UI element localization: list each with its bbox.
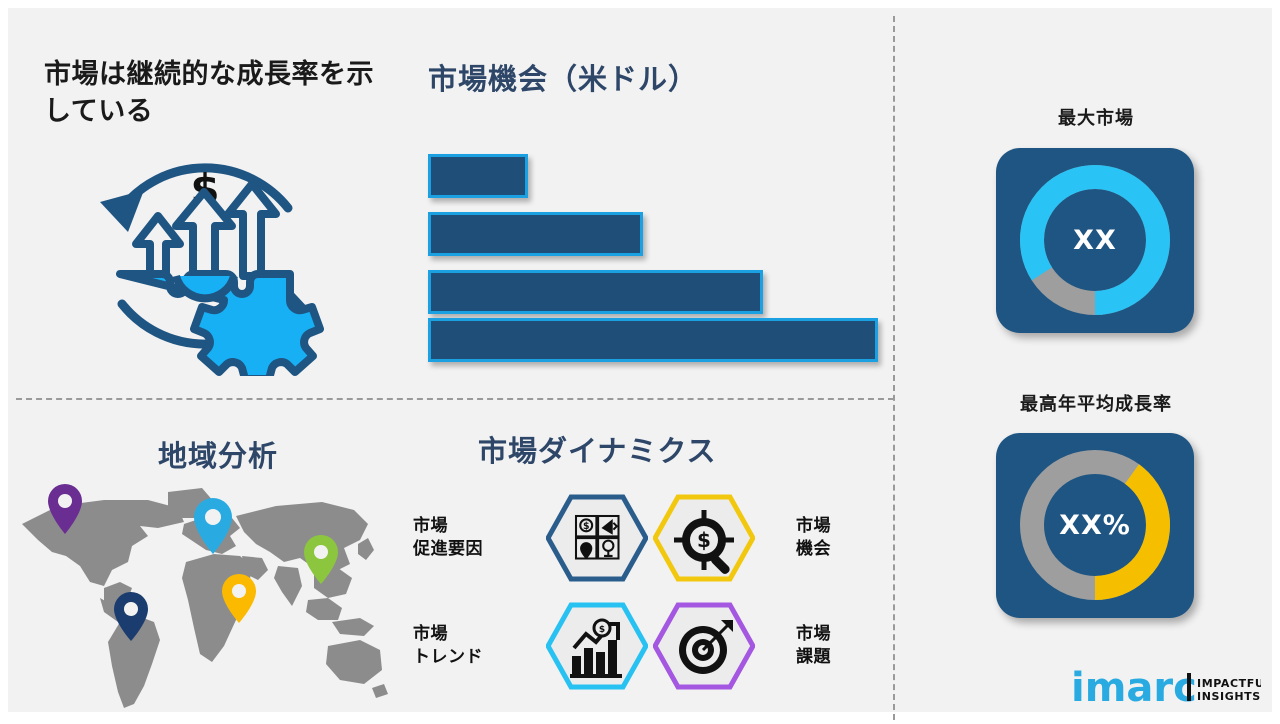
opportunity-bar-chart (428, 154, 888, 354)
dynamics-item-opportunities[interactable]: $ 市場 機会 (653, 492, 888, 584)
bar-3 (428, 270, 763, 314)
dynamics-item-challenges[interactable]: 市場 課題 (653, 600, 888, 692)
growth-gear-arrows-dollar-icon: $ (80, 136, 330, 376)
svg-text:$: $ (583, 521, 590, 532)
bar-2 (428, 212, 643, 256)
imarc-logo-tagline-2: INSIGHTS (1197, 690, 1261, 703)
bar-4 (428, 318, 878, 362)
svg-text:$: $ (599, 625, 605, 635)
donut-2-title: 最高年平均成長率 (966, 390, 1226, 416)
growth-panel-title: 市場は継続的な成長率を示している (44, 56, 394, 131)
magnifier-dollar-icon: $ (653, 494, 755, 582)
bar-chart-growth-icon: $ (546, 602, 648, 690)
opportunity-panel-title: 市場機会（米ドル） (428, 56, 878, 98)
donut-2-center-value: XX% (996, 433, 1194, 618)
slide-root: 市場は継続的な成長率を示している $ (0, 0, 1280, 720)
dynamics-item-trends[interactable]: 市場 トレンド $ (413, 600, 648, 692)
imarc-logo-wordmark: imarc (1071, 665, 1197, 711)
donut-2-card: XX% (996, 433, 1194, 618)
region-panel-title: 地域分析 (158, 433, 388, 475)
bar-1 (428, 154, 528, 198)
dynamics-item-trends-label: 市場 トレンド (413, 623, 505, 669)
target-dart-icon (653, 602, 755, 690)
slide-canvas: 市場は継続的な成長率を示している $ (8, 8, 1272, 712)
world-map (8, 470, 408, 720)
imarc-logo-tagline-1: IMPACTFUL (1197, 677, 1261, 690)
imarc-logo: imarc IMPACTFUL INSIGHTS (1071, 663, 1261, 711)
svg-text:$: $ (697, 528, 711, 552)
puzzle-pieces-icon: $ (546, 494, 648, 582)
dynamics-item-challenges-label: 市場 課題 (796, 623, 888, 669)
dynamics-item-drivers[interactable]: 市場 促進要因 $ (413, 492, 648, 584)
donut-1-title: 最大市場 (966, 104, 1226, 130)
divider-horizontal (16, 398, 894, 400)
dynamics-item-opportunities-label: 市場 機会 (796, 515, 888, 561)
dynamics-item-drivers-label: 市場 促進要因 (413, 515, 505, 561)
donut-1-card: XX (996, 148, 1194, 333)
dynamics-panel-title: 市場ダイナミクス (478, 428, 808, 470)
divider-vertical (893, 16, 895, 720)
donut-1-center-value: XX (996, 148, 1194, 333)
